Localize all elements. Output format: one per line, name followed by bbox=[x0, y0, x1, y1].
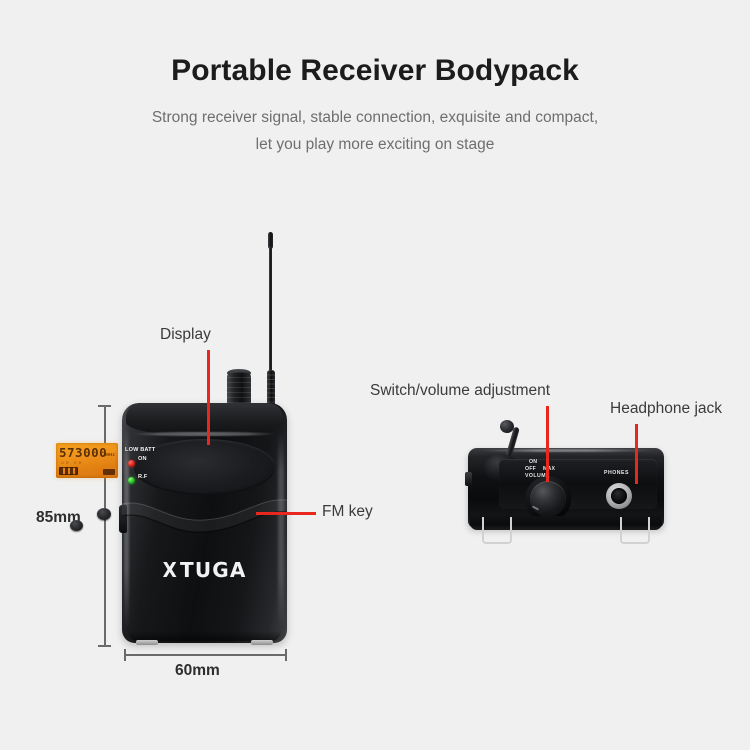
width-dimension-cap-left bbox=[124, 649, 126, 661]
top-view-side-connector bbox=[465, 472, 472, 486]
page-subtitle: Strong receiver signal, stable connectio… bbox=[0, 104, 750, 158]
lcd-battery-icon bbox=[59, 467, 78, 475]
annotation-display-leader bbox=[207, 350, 210, 445]
annotation-headphone-jack-label: Headphone jack bbox=[610, 400, 722, 418]
annotation-headphone-jack-leader bbox=[635, 424, 638, 484]
belt-clip-left bbox=[482, 517, 512, 544]
bodypack-top-cap bbox=[126, 403, 283, 435]
volume-max-label: MAX bbox=[543, 466, 555, 472]
brand-logo-text: TUGA bbox=[180, 558, 247, 582]
top-view-control-panel bbox=[499, 459, 657, 509]
subtitle-line-1: Strong receiver signal, stable connectio… bbox=[152, 109, 598, 126]
lcd-unit-label: MHz bbox=[105, 452, 115, 457]
volume-knob[interactable] bbox=[530, 481, 566, 517]
bodypack-side-connector bbox=[119, 505, 127, 533]
width-dimension-line bbox=[124, 654, 286, 656]
lcd-group-channel-label: GR CH bbox=[61, 461, 84, 465]
bodypack-button-secondary[interactable] bbox=[70, 520, 83, 531]
brand-logo: XTUGA bbox=[122, 558, 287, 582]
subtitle-line-2: let you play more exciting on stage bbox=[256, 136, 495, 153]
volume-on-label: ON bbox=[529, 459, 537, 465]
belt-clip-right bbox=[620, 517, 650, 544]
headphone-jack-port[interactable] bbox=[611, 488, 627, 504]
brand-logo-x: X bbox=[163, 558, 178, 582]
rf-label: R.F bbox=[138, 474, 147, 480]
height-dimension-line bbox=[104, 406, 106, 646]
infographic-canvas: Portable Receiver Bodypack Strong receiv… bbox=[0, 0, 750, 750]
top-knob bbox=[227, 372, 251, 406]
antenna-rod bbox=[269, 246, 271, 374]
annotation-switch-volume-leader bbox=[546, 406, 549, 482]
lcd-screen-inner: 573000 MHz GR CH bbox=[56, 443, 118, 478]
lcd-signal-icon bbox=[103, 469, 115, 475]
antenna bbox=[268, 232, 273, 407]
bodypack-top-edge-highlight bbox=[132, 432, 277, 436]
annotation-switch-volume-label: Switch/volume adjustment bbox=[370, 382, 550, 400]
lcd-frequency-value: 573000 bbox=[59, 447, 107, 460]
rf-led-icon bbox=[128, 477, 135, 484]
annotation-fm-key-leader bbox=[256, 512, 316, 515]
bodypack-shell: XTUGA bbox=[122, 403, 287, 643]
lcd-display: 573000 MHz GR CH bbox=[56, 443, 118, 478]
top-view-antenna-knob bbox=[500, 420, 514, 433]
height-dimension-cap-bottom bbox=[98, 645, 111, 647]
width-dimension-cap-right bbox=[285, 649, 287, 661]
annotation-display-label: Display bbox=[160, 326, 211, 344]
low-batt-led-icon bbox=[128, 460, 135, 467]
height-dimension-cap-top bbox=[98, 405, 111, 407]
volume-off-label: OFF bbox=[525, 466, 536, 472]
page-title: Portable Receiver Bodypack bbox=[0, 52, 750, 90]
width-dimension-label: 60mm bbox=[175, 662, 220, 680]
low-batt-label: LOW BATT bbox=[125, 447, 155, 453]
bodypack-foot-right bbox=[251, 640, 273, 645]
on-label: ON bbox=[138, 456, 147, 462]
bodypack-right-highlight bbox=[278, 433, 284, 628]
fm-key-button[interactable] bbox=[97, 508, 111, 520]
annotation-fm-key-label: FM key bbox=[322, 503, 373, 521]
bodypack-foot-left bbox=[136, 640, 158, 645]
header: Portable Receiver Bodypack Strong receiv… bbox=[0, 52, 750, 158]
phones-jack-label: PHONES bbox=[604, 470, 629, 476]
